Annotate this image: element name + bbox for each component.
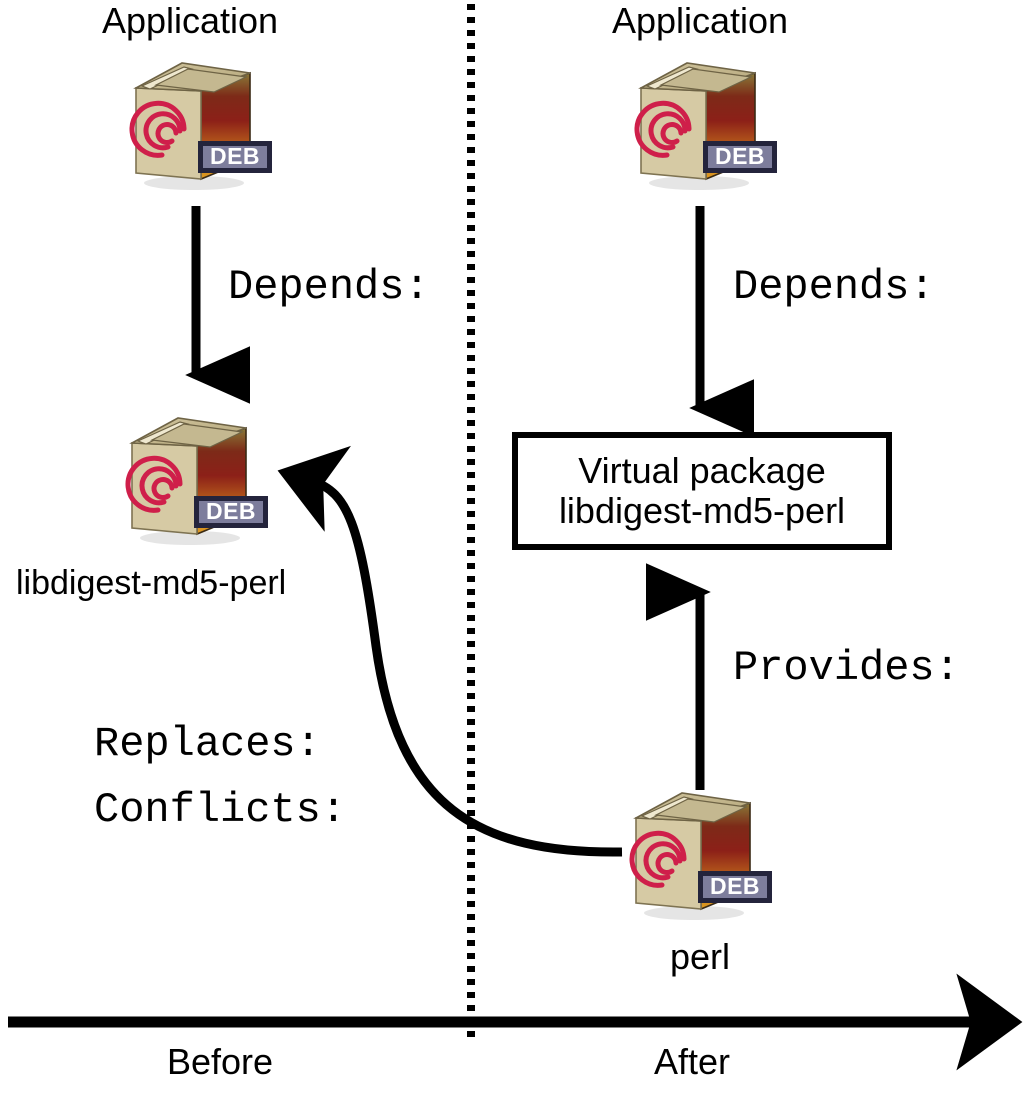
svg-text:DEB: DEB <box>710 873 760 899</box>
provides-label: Provides: <box>733 644 960 692</box>
svg-text:DEB: DEB <box>206 498 256 524</box>
after-application-package-icon: DEB <box>627 55 787 195</box>
provider-package-label: perl <box>670 938 730 976</box>
provider-package-icon: DEB <box>622 785 782 925</box>
before-depends-label: Depends: <box>228 263 430 311</box>
before-application-package-icon: DEB <box>122 55 282 195</box>
deb-badge: DEB <box>198 141 272 173</box>
svg-text:DEB: DEB <box>210 143 260 169</box>
diagram-canvas: Application <box>0 0 1024 1094</box>
after-depends-label: Depends: <box>733 263 935 311</box>
before-target-package-icon: DEB <box>118 410 278 550</box>
timeline-before-label: Before <box>167 1043 273 1081</box>
deb-badge: DEB <box>194 496 268 528</box>
timeline-after-label: After <box>654 1043 730 1081</box>
deb-badge: DEB <box>703 141 777 173</box>
replaces-label: Replaces: <box>94 720 321 768</box>
conflicts-label: Conflicts: <box>94 786 346 834</box>
after-application-title: Application <box>612 2 788 40</box>
svg-text:DEB: DEB <box>715 143 765 169</box>
before-target-package-label: libdigest-md5-perl <box>16 566 286 602</box>
virtual-package-line-2: libdigest-md5-perl <box>559 491 845 531</box>
virtual-package-line-1: Virtual package <box>578 451 826 491</box>
deb-badge: DEB <box>698 871 772 903</box>
before-application-title: Application <box>102 2 278 40</box>
virtual-package-box: Virtual package libdigest-md5-perl <box>512 432 892 550</box>
